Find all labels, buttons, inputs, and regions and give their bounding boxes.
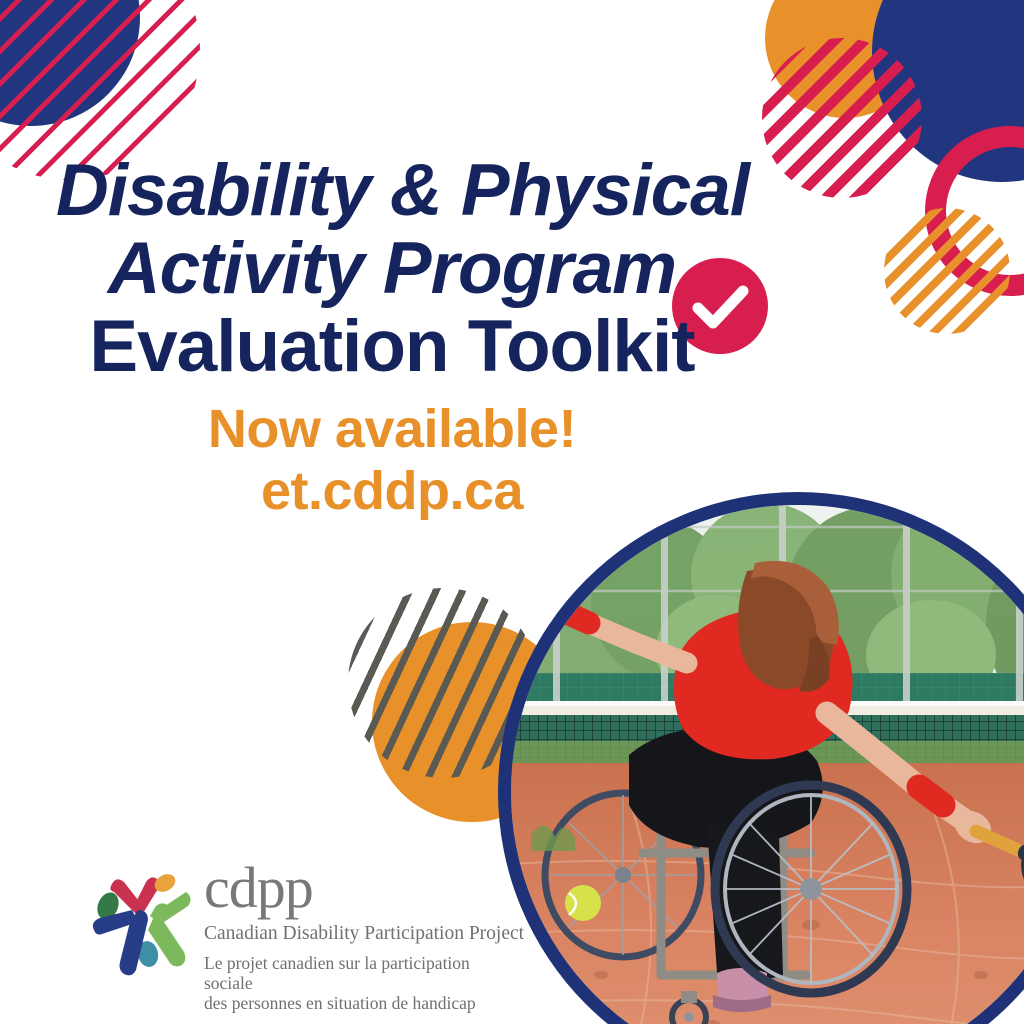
cdpp-tagline-english: Canadian Disability Participation Projec… (204, 922, 504, 946)
cdpp-logo: cdpp Canadian Disability Participation P… (86, 858, 506, 998)
cdpp-wordmark: cdpp (204, 858, 504, 918)
availability-text: Now available! (56, 398, 728, 460)
poster-canvas: Disability & Physical Activity Program E… (0, 0, 1024, 1024)
cdpp-logo-text: cdpp Canadian Disability Participation P… (204, 858, 504, 1013)
headline-line-2: Activity Program (56, 230, 728, 308)
photo-circle-frame (498, 492, 1024, 1024)
wheelchair-tennis-photo (511, 505, 1024, 1024)
top-right-orange-striped-circle (884, 208, 1010, 334)
website-url[interactable]: et.cddp.ca (56, 460, 728, 522)
headline-line-1: Disability & Physical (56, 152, 728, 230)
cdpp-logo-mark-icon (86, 860, 204, 978)
photo-circle (511, 505, 1024, 1024)
cdpp-tagline-french-line-2: des personnes en situation de handicap (204, 993, 504, 1013)
top-right-crimson-striped-circle (762, 38, 922, 198)
cdpp-tagline-french-line-1: Le projet canadien sur la participation … (204, 953, 504, 993)
headline-line-3: Evaluation Toolkit (56, 308, 728, 386)
subtitle: Now available! et.cddp.ca (56, 398, 728, 522)
headline: Disability & Physical Activity Program E… (56, 152, 728, 386)
